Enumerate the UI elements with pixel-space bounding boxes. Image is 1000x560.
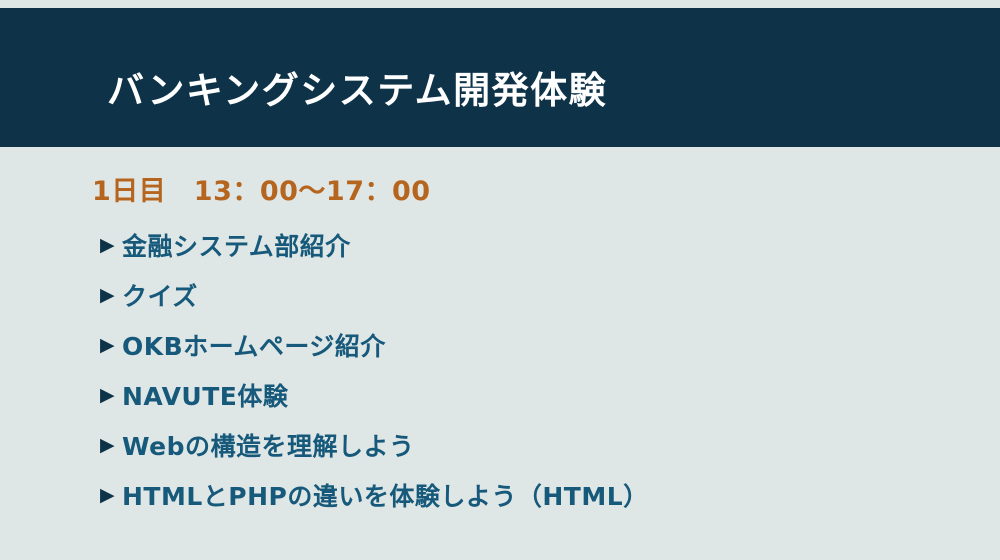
triangle-right-icon: ▶ [100,486,122,505]
list-item: ▶ HTMLとPHPの違いを体験しよう（HTML） [100,470,960,520]
title-band: バンキングシステム開発体験 [0,8,1000,147]
day-schedule-heading: 1日目 13：00～17：00 [92,169,431,208]
triangle-right-icon: ▶ [100,436,122,455]
slide-body: 1日目 13：00～17：00 ▶ 金融システム部紹介 ▶ クイズ ▶ OKBホ… [0,147,1000,560]
triangle-right-icon: ▶ [100,386,122,405]
page-title: バンキングシステム開発体験 [107,60,607,114]
triangle-right-icon: ▶ [100,236,122,255]
list-item-label: Webの構造を理解しよう [122,427,415,463]
list-item: ▶ クイズ [100,270,960,320]
top-margin-strip [0,0,1000,8]
agenda-list: ▶ 金融システム部紹介 ▶ クイズ ▶ OKBホームページ紹介 ▶ NAVUTE… [100,220,960,520]
list-item: ▶ Webの構造を理解しよう [100,420,960,470]
list-item-label: HTMLとPHPの違いを体験しよう（HTML） [122,477,649,513]
list-item: ▶ 金融システム部紹介 [100,220,960,270]
triangle-right-icon: ▶ [100,286,122,305]
list-item-label: 金融システム部紹介 [122,227,351,263]
slide: バンキングシステム開発体験 1日目 13：00～17：00 ▶ 金融システム部紹… [0,0,1000,560]
triangle-right-icon: ▶ [100,336,122,355]
list-item: ▶ NAVUTE体験 [100,370,960,420]
list-item-label: OKBホームページ紹介 [122,327,386,363]
list-item: ▶ OKBホームページ紹介 [100,320,960,370]
list-item-label: クイズ [122,277,198,313]
list-item-label: NAVUTE体験 [122,377,288,413]
